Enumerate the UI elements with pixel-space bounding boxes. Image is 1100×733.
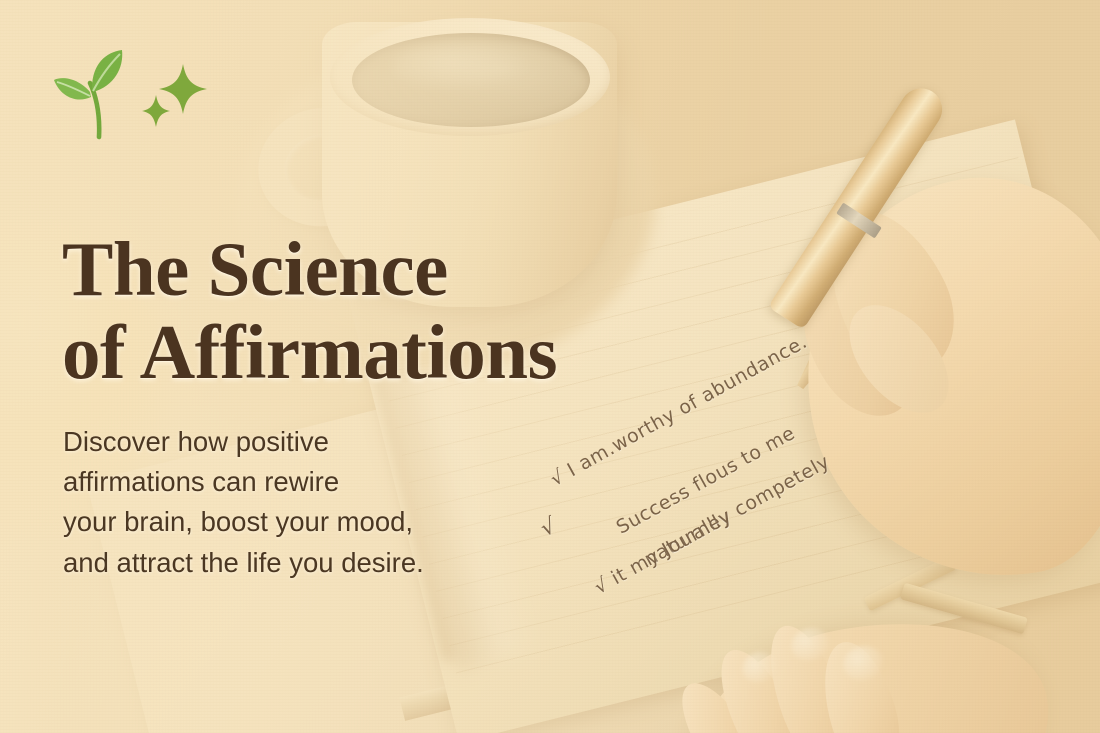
poster-content: The Science of Affirmations Discover how… bbox=[0, 0, 1100, 733]
brand-mark bbox=[52, 48, 227, 140]
sparkle-star-large-icon bbox=[159, 64, 207, 114]
headline-line-2: of Affirmations bbox=[62, 311, 702, 394]
sprout-leaf-icon bbox=[54, 50, 122, 137]
headline-line-1: The Science bbox=[62, 228, 702, 311]
subhead-line-3: your brain, boost your mood, bbox=[63, 502, 553, 542]
subhead-line-2: affirmations can rewire bbox=[63, 462, 553, 502]
sparkle-star-small-icon bbox=[142, 95, 170, 127]
affirmations-poster: √ I am.worthy of abundance. √ Success fl… bbox=[0, 0, 1100, 733]
page-title: The Science of Affirmations bbox=[62, 228, 702, 394]
page-subtitle: Discover how positive affirmations can r… bbox=[63, 422, 553, 584]
subhead-line-4: and attract the life you desire. bbox=[63, 543, 553, 583]
subhead-line-1: Discover how positive bbox=[63, 422, 553, 462]
